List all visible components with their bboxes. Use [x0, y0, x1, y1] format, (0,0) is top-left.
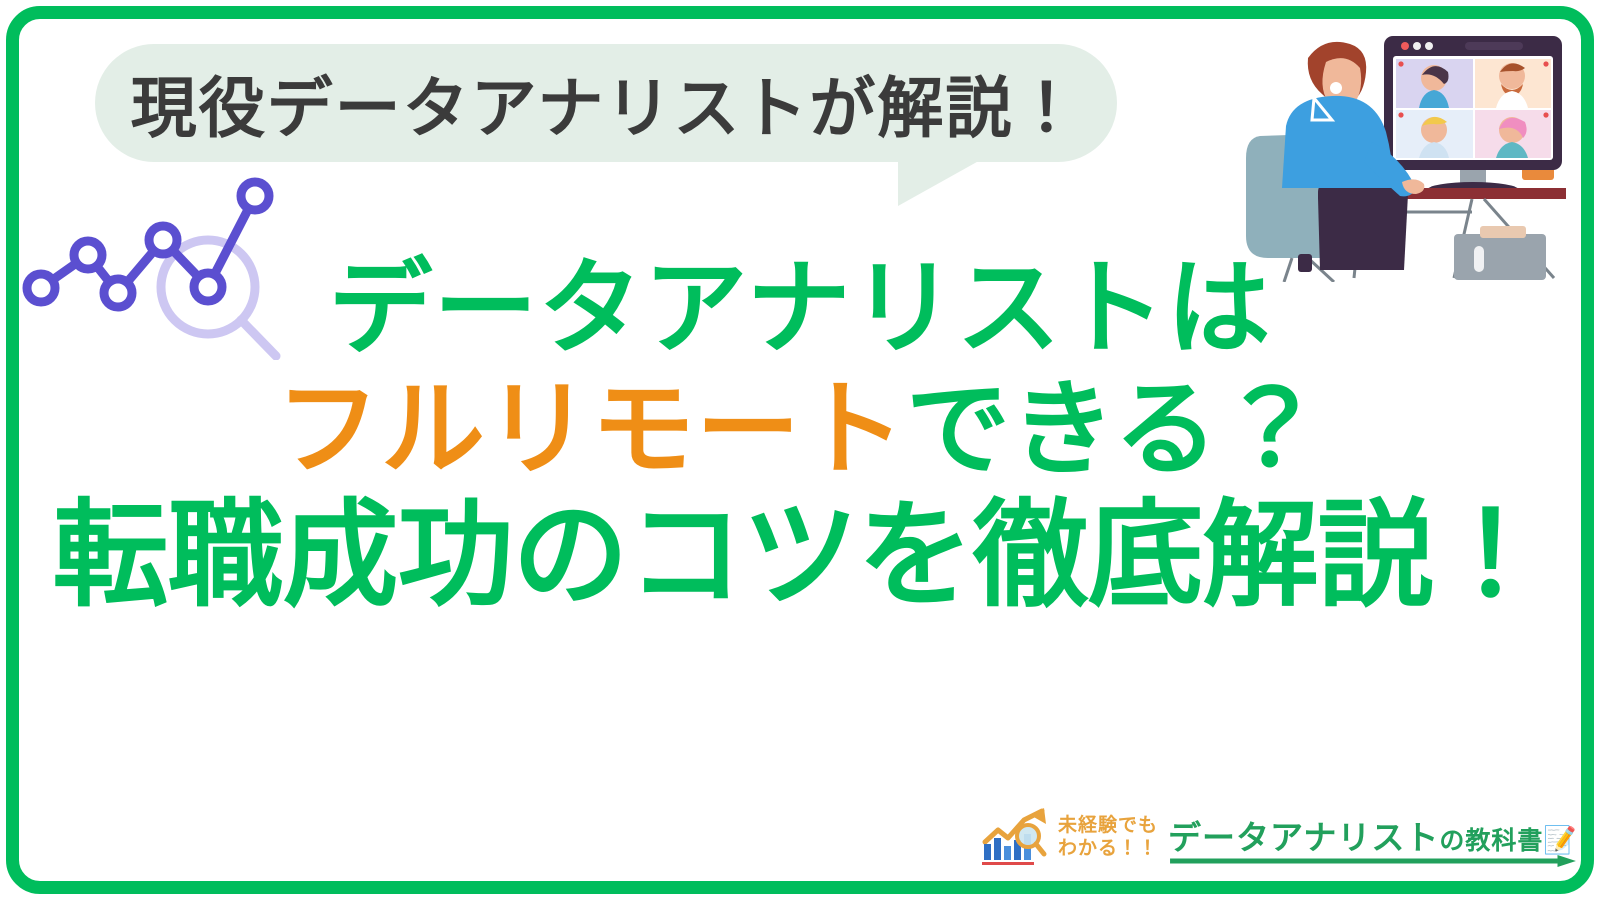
- memo-pencil-icon: 📝: [1543, 825, 1578, 856]
- remote-video-conference-illustration: [1222, 14, 1578, 282]
- logo-tagline: 未経験でも わかる！！: [1058, 814, 1158, 860]
- headline: データアナリストは フルリモートできる？ 転職成功のコツを徹底解説！: [0, 248, 1600, 624]
- headline-line-3: 転職成功のコツを徹底解説！: [0, 489, 1600, 624]
- logo-name: データアナリストの教科書📝: [1168, 821, 1578, 854]
- site-logo[interactable]: 未経験でも わかる！！ データアナリストの教科書📝: [980, 798, 1540, 876]
- logo-name-main: データアナリスト: [1168, 818, 1439, 857]
- headline-line-2: フルリモートできる？: [0, 369, 1600, 490]
- logo-tagline-line-1: 未経験でも: [1058, 814, 1158, 837]
- logo-underline-arrow-icon: [1168, 854, 1578, 868]
- headline-line-2-tail: できる？: [906, 368, 1324, 490]
- badge-bubble-tail: [898, 158, 984, 206]
- headline-line-2-emphasis: フルリモート: [276, 368, 906, 490]
- badge-text: 現役データアナリストが解説！: [95, 44, 1117, 162]
- logo-name-suffix: の教科書: [1439, 826, 1543, 855]
- logo-tagline-line-2: わかる！！: [1058, 837, 1158, 860]
- thumbnail-canvas: 現役データアナリストが解説！: [0, 0, 1600, 900]
- logo-name-wrap: データアナリストの教科書📝: [1168, 821, 1578, 854]
- participant-3: [1419, 117, 1449, 158]
- bar-chart-magnifier-logo-icon: [980, 806, 1054, 868]
- headline-line-1: データアナリストは: [0, 248, 1600, 369]
